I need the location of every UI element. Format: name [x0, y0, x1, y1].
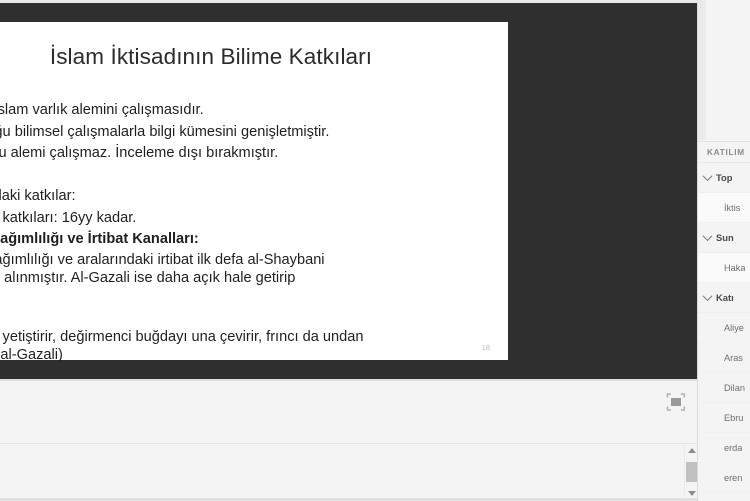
tree-item-label: Dilan: [724, 383, 745, 393]
slide-line: ya koyduğu bilimsel çalışmalarla bilgi k…: [0, 122, 508, 144]
participants-panel-title: KATILIM: [698, 148, 745, 157]
share-toolbar: [0, 381, 697, 443]
sidebar-upper-region: ⁞: [698, 0, 750, 140]
slide-body-text: k katkısı İslam varlık alemini çalışması…: [0, 100, 508, 365]
lower-content-pane: [0, 443, 697, 501]
slide-line: rz tarafındaki katkılar:: [0, 186, 508, 208]
lower-pane-scrollbar[interactable]: [684, 444, 697, 499]
list-item[interactable]: Ebru: [698, 403, 750, 433]
scrollbar-thumb[interactable]: [686, 462, 697, 482]
scroll-grip-icon: ⁞: [700, 4, 702, 10]
participants-tree: Top İktis Sun Haka Katı Aliye Aras: [698, 163, 750, 501]
fullscreen-icon[interactable]: [665, 391, 687, 413]
slide-line: an bilim bu alemi çalışmaz. İnceleme dış…: [0, 143, 508, 165]
slide-title: İslam İktisadının Bilime Katkıları: [0, 44, 508, 70]
slide-page-number: 18: [482, 343, 490, 352]
list-item[interactable]: İktis: [698, 193, 750, 223]
list-item[interactable]: erda: [698, 433, 750, 463]
tree-group-label: Top: [716, 172, 732, 183]
sidebar-scroll-rail[interactable]: ⁞: [698, 0, 706, 140]
tree-item-label: Ebru: [724, 413, 743, 423]
participants-sidebar: ⁞ KATILIM Top İktis Sun Haka K: [697, 0, 750, 501]
tree-group-participants[interactable]: Katı: [698, 283, 750, 313]
list-item[interactable]: Haka: [698, 253, 750, 283]
slide-line: çi buğday yetiştirir, değirmenci buğdayı…: [0, 328, 508, 347]
tree-item-label: Haka: [724, 263, 745, 273]
tree-group-label: Sun: [716, 232, 734, 243]
list-item[interactable]: Aras: [698, 343, 750, 373]
meeting-screen-share-window: İslam İktisadının Bilime Katkıları k kat…: [0, 0, 750, 501]
slide-line: ek üretir' (al-Gazali): [0, 346, 508, 365]
slide-line: ilk dönem katkıları: 16yy kadar.: [0, 208, 508, 230]
slide-line: k katkısı İslam varlık alemini çalışması…: [0, 100, 508, 122]
presentation-slide: İslam İktisadının Bilime Katkıları k kat…: [0, 22, 508, 360]
tree-item-label: erda: [724, 443, 742, 453]
slide-line: ayilerin bağımlılığı ve aralarındaki irt…: [0, 251, 508, 270]
list-item[interactable]: eren: [698, 463, 750, 493]
bottom-panel-area: [0, 379, 697, 501]
list-item[interactable]: Aliye: [698, 313, 750, 343]
slide-line: etmiştir:: [0, 288, 508, 307]
tree-item-label: Aras: [724, 353, 743, 363]
list-item[interactable]: Dilan: [698, 373, 750, 403]
slide-line: fından ele alınmıştır. Al-Gazali ise dah…: [0, 269, 508, 288]
chevron-down-icon[interactable]: [698, 294, 716, 301]
share-viewport-top-edge: [0, 0, 697, 3]
screen-share-viewport[interactable]: İslam İktisadının Bilime Katkıları k kat…: [0, 0, 697, 379]
tree-group-presenter[interactable]: Sun: [698, 223, 750, 253]
chevron-down-icon[interactable]: [698, 174, 716, 181]
tree-group-meeting[interactable]: Top: [698, 163, 750, 193]
slide-line-heading: ayilerin bağımlılığı ve İrtibat Kanallar…: [0, 229, 508, 251]
slide-line-spacer: [0, 306, 508, 328]
participants-panel-header: KATILIM: [698, 141, 750, 163]
tree-item-label: eren: [724, 473, 742, 483]
tree-item-label: İktis: [724, 203, 740, 213]
chevron-down-icon[interactable]: [698, 234, 716, 241]
tree-group-label: Katı: [716, 292, 734, 303]
tree-item-label: Aliye: [724, 323, 744, 333]
slide-line-spacer: [0, 165, 508, 187]
